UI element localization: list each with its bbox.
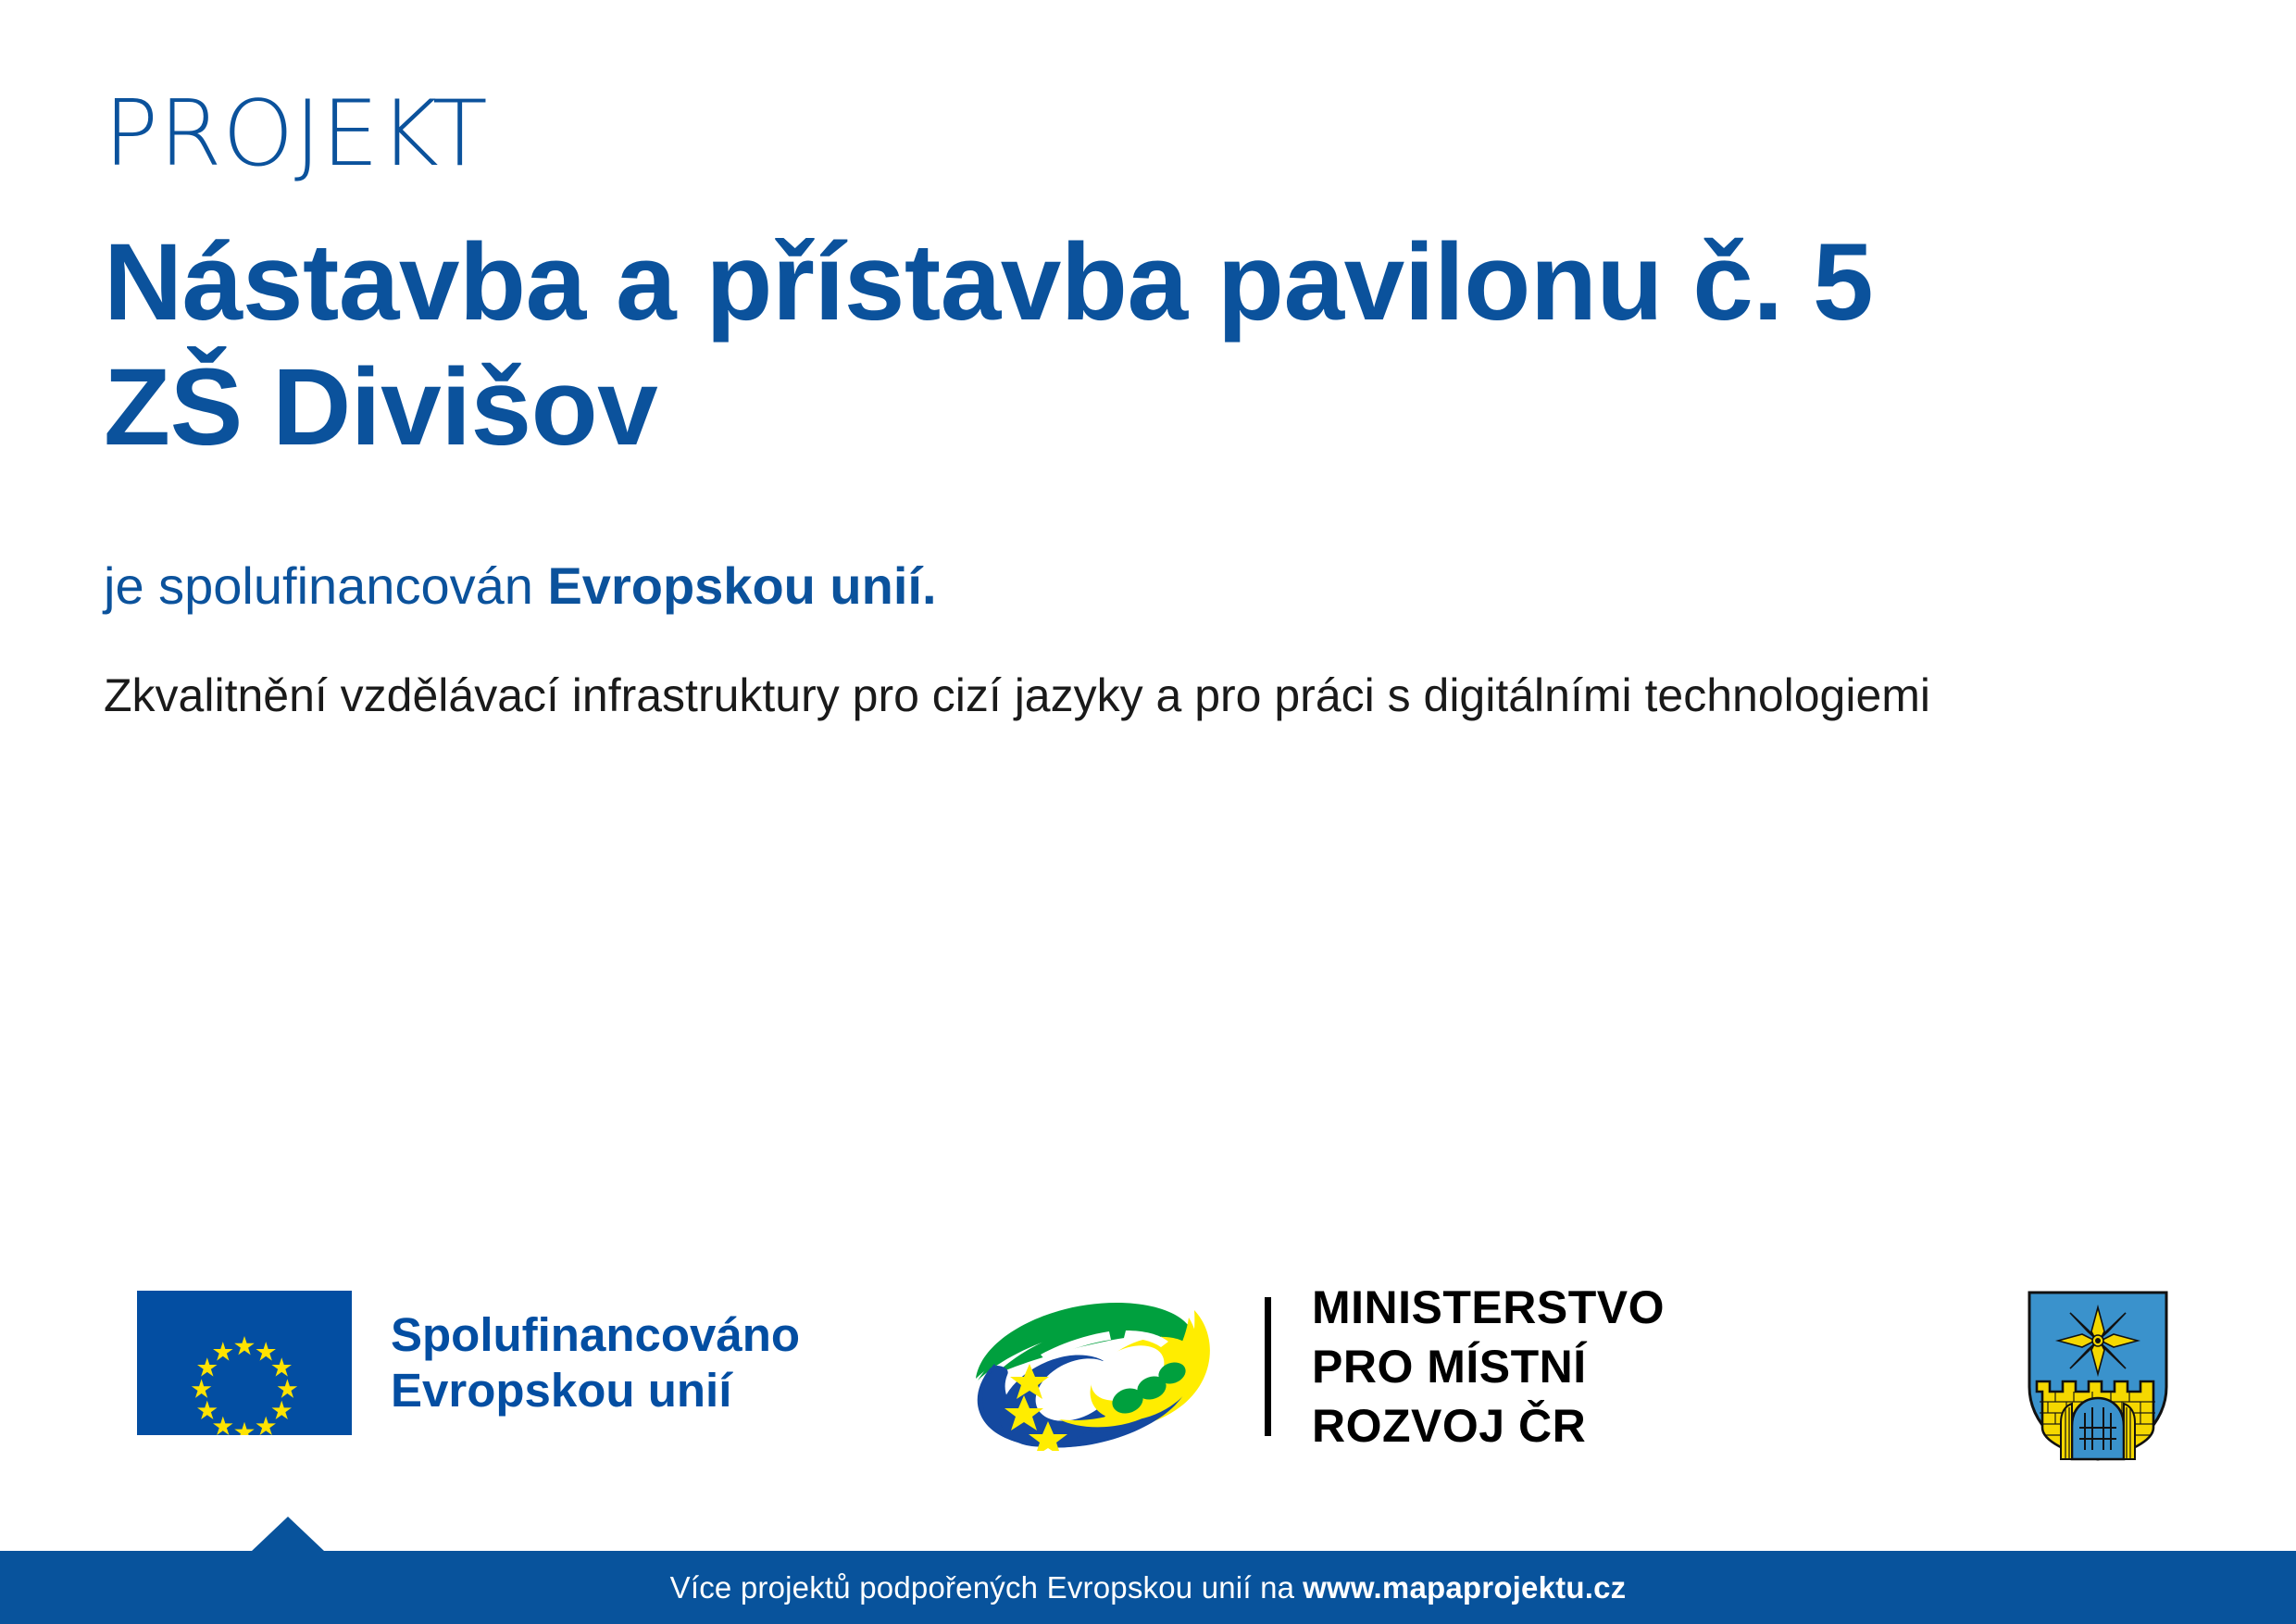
bottom-bar-notch — [252, 1517, 324, 1551]
ministry-wordmark-line-3: ROZVOJ ČR — [1312, 1396, 1665, 1455]
ministry-logo: MINISTERSTVO PRO MÍSTNÍ ROZVOJ ČR — [963, 1278, 1665, 1455]
project-title-line-2: ZŠ Divišov — [104, 346, 657, 468]
bottom-bar-text: Více projektů podpořených Evropskou unií… — [0, 1551, 2296, 1624]
project-title-line-1: Nástavba a přístavba pavilonu č. 5 — [104, 221, 1873, 344]
ministry-wordmark-line-1: MINISTERSTVO — [1312, 1278, 1665, 1337]
divisov-coat-of-arms-icon — [2024, 1287, 2172, 1463]
logo-divider — [1265, 1297, 1271, 1436]
project-description: Zkvalitnění vzdělávací infrastruktury pr… — [104, 667, 2215, 725]
eu-cofunding-wordmark: Spolufinancováno Evropskou unií — [391, 1307, 800, 1418]
european-union-flag-icon — [137, 1291, 352, 1435]
bottom-bar: Více projektů podpořených Evropskou unií… — [0, 1551, 2296, 1624]
poster-eyebrow-label: PROJEKT — [104, 89, 2215, 180]
funding-statement: je spolufinancován Evropskou unií. — [104, 555, 2215, 617]
poster-content-block: PROJEKT Nástavba a přístavba pavilonu č.… — [104, 89, 2215, 725]
ministry-swirl-icon — [963, 1282, 1241, 1451]
page-title: Nástavba a přístavba pavilonu č. 5 ZŠ Di… — [104, 220, 2215, 469]
mapaprojektu-link[interactable]: www.mapaprojektu.cz — [1303, 1570, 1626, 1605]
logo-strip: Spolufinancováno Evropskou unií — [0, 1270, 2296, 1465]
eu-cofunding-logo: Spolufinancováno Evropskou unií — [137, 1291, 800, 1435]
funding-statement-prefix: je spolufinancován — [104, 556, 547, 615]
ministry-wordmark: MINISTERSTVO PRO MÍSTNÍ ROZVOJ ČR — [1312, 1278, 1665, 1455]
ministry-wordmark-line-2: PRO MÍSTNÍ — [1312, 1337, 1665, 1396]
project-information-poster: PROJEKT Nástavba a přístavba pavilonu č.… — [0, 0, 2296, 1624]
bottom-bar-prefix: Více projektů podpořených Evropskou unií… — [670, 1570, 1295, 1605]
funding-statement-emphasis: Evropskou unií. — [547, 556, 936, 615]
eu-wordmark-line-2: Evropskou unií — [391, 1363, 800, 1418]
eu-wordmark-line-1: Spolufinancováno — [391, 1307, 800, 1363]
